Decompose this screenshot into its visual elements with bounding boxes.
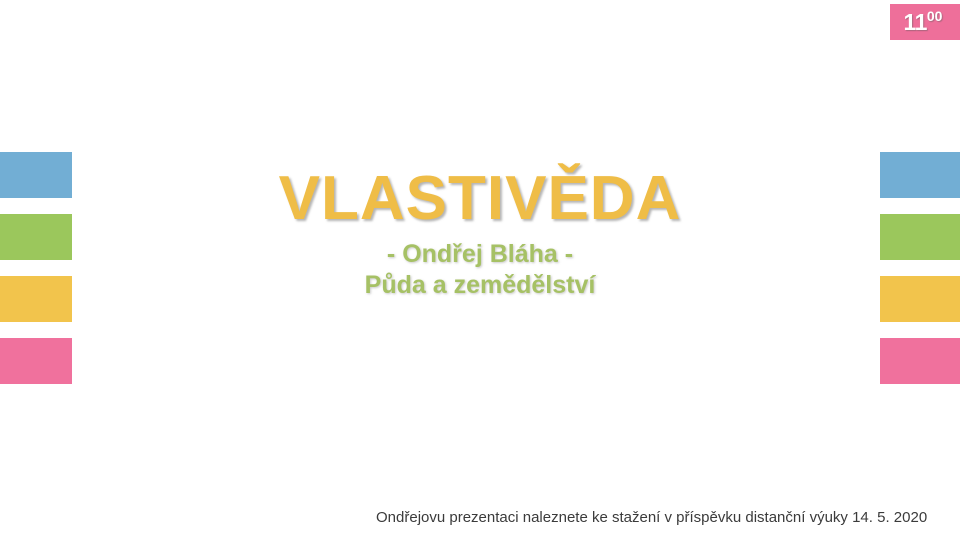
slide-caption: Ondřejovu prezentaci naleznete ke stažen… <box>376 508 960 528</box>
slide-title: VLASTIVĚDA <box>0 166 960 231</box>
title-block: VLASTIVĚDA - Ondřej Bláha - Půda a zeměd… <box>0 166 960 300</box>
decor-bar-pink <box>880 338 960 384</box>
time-badge: 1100 <box>890 4 960 40</box>
subtitle-topic: Půda a zemědělství <box>0 270 960 301</box>
time-badge-hours: 11 <box>904 11 927 34</box>
slide-subtitle: - Ondřej Bláha - Půda a zemědělství <box>0 231 960 300</box>
subtitle-author: - Ondřej Bláha - <box>0 239 960 270</box>
time-badge-minutes: 00 <box>927 9 943 23</box>
decor-bar-pink <box>0 338 72 384</box>
slide-canvas: 1100 VLASTIVĚDA - Ondřej Bláha - Půda a … <box>0 0 960 540</box>
